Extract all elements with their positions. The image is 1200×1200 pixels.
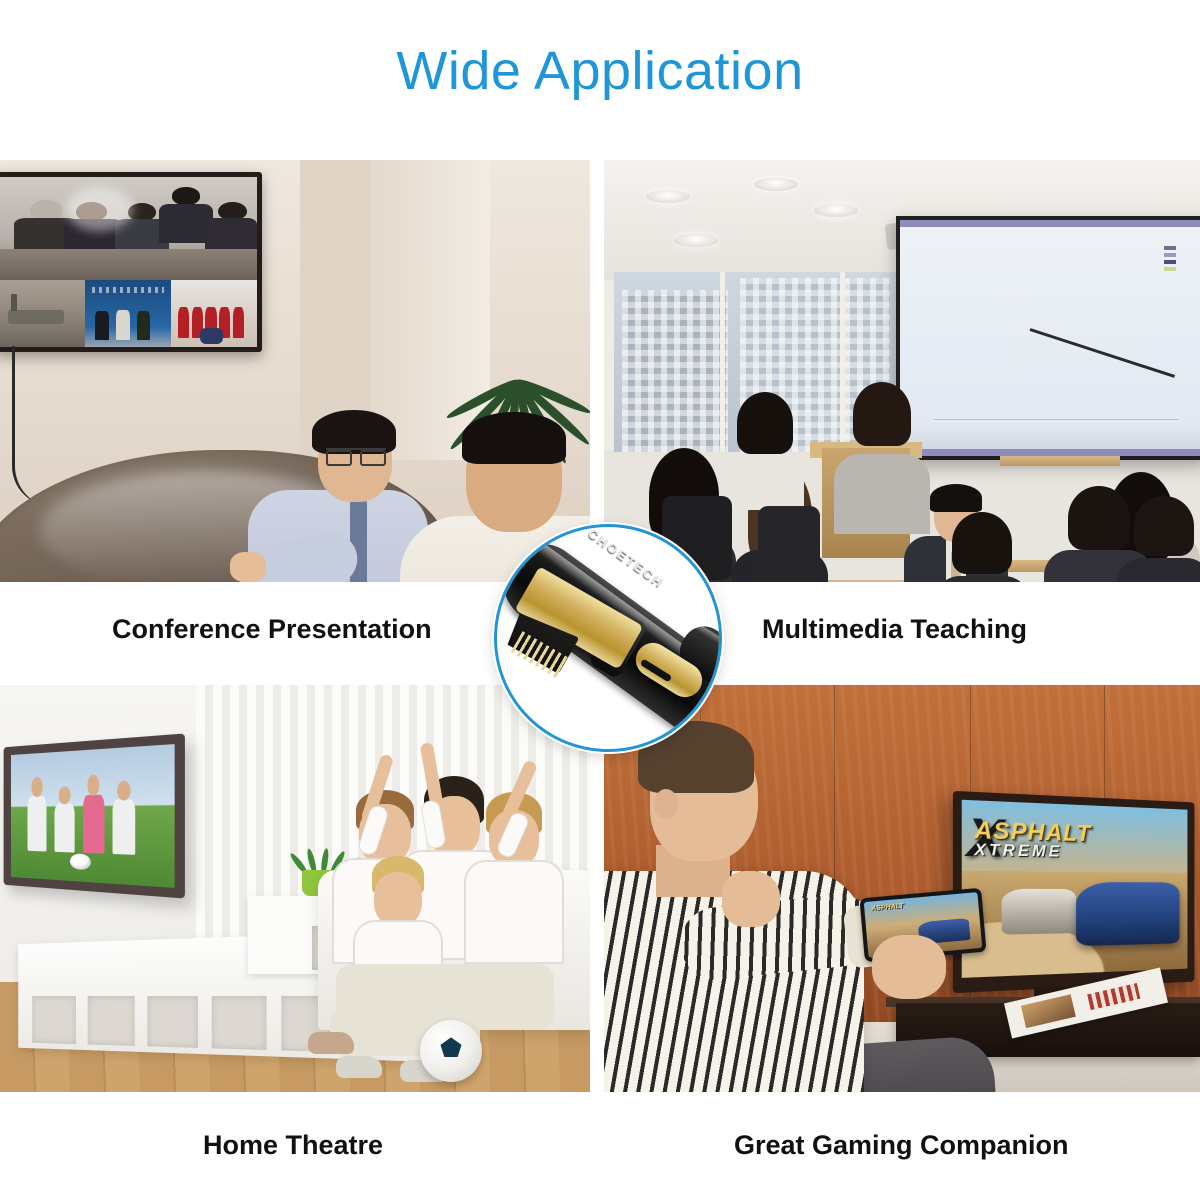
gamer-hand-holding-phone	[872, 935, 946, 999]
video-feed-main	[0, 177, 257, 280]
panel-multimedia-teaching	[604, 160, 1200, 582]
slide-bar-chart	[934, 242, 1178, 420]
slide-bottom-band	[900, 449, 1200, 456]
caption-home-theatre: Home Theatre	[203, 1130, 383, 1161]
gamer-fist	[722, 871, 780, 927]
caption-multimedia-teaching: Multimedia Teaching	[762, 614, 1027, 645]
family-shoe-3	[308, 1032, 354, 1054]
projection-screen	[896, 216, 1200, 460]
game-title-line-2: XTREME	[974, 842, 1135, 863]
classroom-chair-2	[758, 506, 820, 582]
conference-person-2-hair	[462, 412, 566, 464]
video-feed-table	[0, 249, 257, 280]
slide-chart-legend	[1164, 246, 1176, 274]
student-5	[934, 516, 1030, 582]
conference-tv-screen	[0, 177, 257, 347]
choetech-cable: CHOETECH	[497, 527, 719, 749]
gaming-tv-screen: X ASPHALT XTREME	[962, 800, 1188, 978]
gamer-ear	[654, 789, 678, 819]
game-logo: ASPHALT XTREME	[974, 816, 1135, 863]
home-tv	[4, 733, 185, 898]
game-rally-car	[1077, 882, 1180, 946]
teacher-hair	[930, 484, 982, 512]
phone-game-title: ASPHALT	[871, 903, 904, 913]
video-feed-thumb-1	[0, 280, 85, 347]
ceiling-light-4	[674, 234, 718, 247]
ceiling-light-1	[646, 190, 690, 203]
home-tv-screen	[11, 744, 175, 888]
video-feed-thumb-2	[85, 280, 171, 347]
student-3	[726, 396, 804, 500]
ceiling-light-3	[814, 204, 858, 217]
product-badge: CHOETECH	[494, 524, 722, 752]
conference-person-1-glasses	[326, 448, 386, 462]
video-feed-thumb-row	[0, 280, 257, 347]
video-feed-thumb-3	[171, 280, 257, 347]
video-feed-main-row	[0, 177, 257, 280]
caption-conference-presentation: Conference Presentation	[112, 614, 432, 645]
student-4	[834, 388, 930, 520]
ceiling-light-2	[754, 178, 798, 191]
game-buggy	[1001, 889, 1076, 934]
slide-top-band	[900, 220, 1200, 227]
gaming-tv: X ASPHALT XTREME	[953, 791, 1195, 993]
soccer-ball	[420, 1020, 482, 1082]
page-title: Wide Application	[0, 40, 1200, 102]
panel-conference-presentation	[0, 160, 590, 582]
conference-tv	[0, 172, 262, 352]
family-shoe-1	[336, 1056, 382, 1078]
caption-great-gaming-companion: Great Gaming Companion	[734, 1130, 1069, 1161]
conference-person-1-hand	[230, 552, 266, 582]
projection-screen-surface	[900, 220, 1200, 456]
window-mullion-1	[720, 272, 725, 452]
student-7	[1116, 500, 1200, 582]
classroom-desk-3	[1000, 456, 1120, 466]
